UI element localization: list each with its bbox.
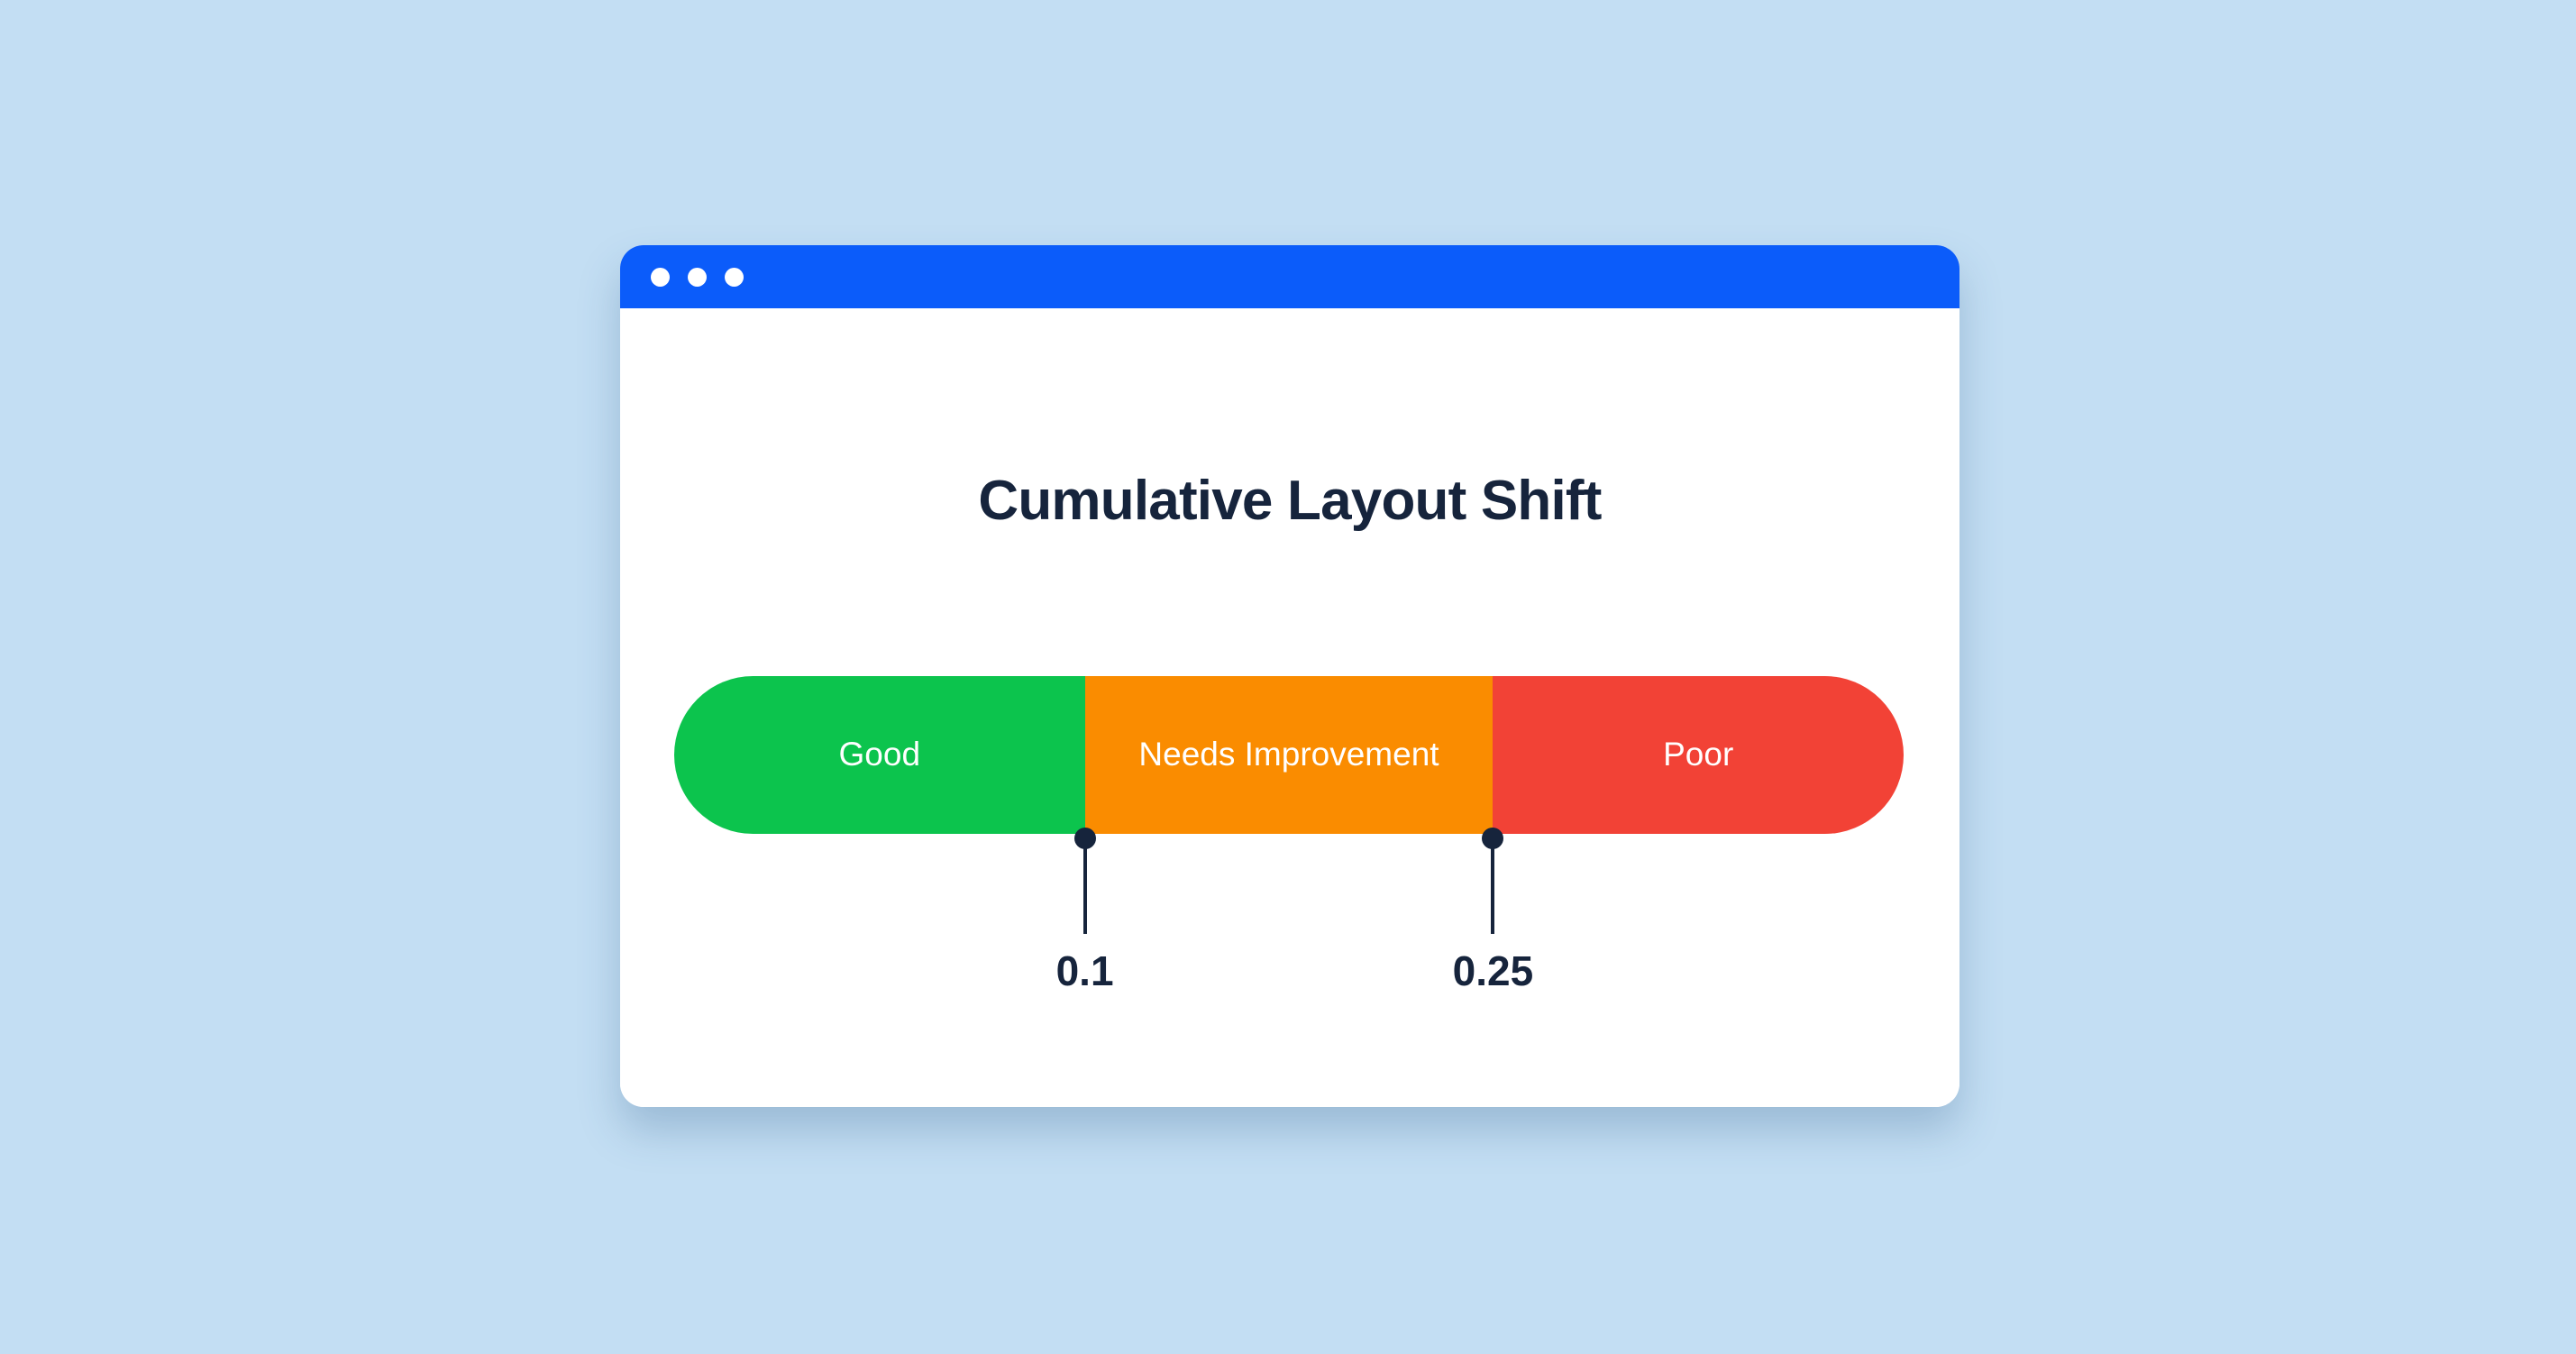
bar-segment-poor-label: Poor bbox=[1663, 736, 1733, 774]
window-close-dot-icon[interactable] bbox=[651, 268, 670, 287]
threshold-value-label: 0.25 bbox=[1375, 947, 1610, 995]
bar-segment-poor[interactable]: Poor bbox=[1493, 676, 1904, 834]
bar-segment-needs-improvement[interactable]: Needs Improvement bbox=[1085, 676, 1494, 834]
bar-segment-good[interactable]: Good bbox=[674, 676, 1085, 834]
threshold-leader-line bbox=[1083, 837, 1087, 934]
page-title: Cumulative Layout Shift bbox=[620, 469, 1959, 533]
browser-titlebar bbox=[620, 245, 1959, 308]
threshold-value-label: 0.1 bbox=[968, 947, 1202, 995]
bar-segment-good-label: Good bbox=[839, 736, 921, 774]
window-content-area: Cumulative Layout Shift Good Needs Impro… bbox=[620, 308, 1959, 1107]
cls-threshold-bar: Good Needs Improvement Poor bbox=[674, 676, 1904, 834]
window-maximize-dot-icon[interactable] bbox=[725, 268, 744, 287]
browser-window-card: Cumulative Layout Shift Good Needs Impro… bbox=[620, 245, 1959, 1107]
threshold-leader-line bbox=[1491, 837, 1494, 934]
window-minimize-dot-icon[interactable] bbox=[688, 268, 707, 287]
bar-segment-needs-improvement-label: Needs Improvement bbox=[1138, 736, 1439, 774]
